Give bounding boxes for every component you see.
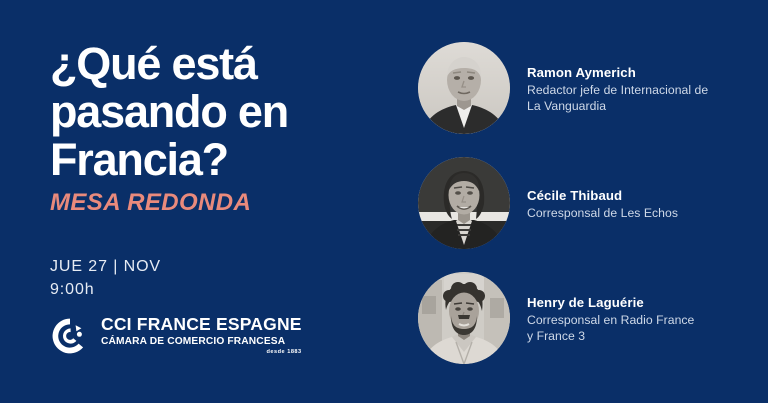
speaker-row: Henry de Laguérie Corresponsal en Radio … bbox=[418, 272, 738, 364]
speaker-role-line: Redactor jefe de Internacional de bbox=[527, 82, 708, 98]
brand-logo: CCI FRANCE ESPAGNE CÁMARA DE COMERCIO FR… bbox=[50, 315, 302, 357]
speaker-role: Corresponsal en Radio France y France 3 bbox=[527, 312, 694, 344]
title-line-2: pasando en bbox=[50, 88, 390, 136]
speaker-role: Corresponsal de Les Echos bbox=[527, 205, 678, 221]
avatar bbox=[418, 272, 510, 364]
title-line-3: Francia? bbox=[50, 136, 390, 184]
avatar bbox=[418, 157, 510, 249]
speaker-row: Ramon Aymerich Redactor jefe de Internac… bbox=[418, 42, 738, 134]
brand-tagline: desde 1883 bbox=[101, 348, 302, 357]
speaker-info: Henry de Laguérie Corresponsal en Radio … bbox=[527, 293, 694, 344]
speaker-info: Ramon Aymerich Redactor jefe de Internac… bbox=[527, 63, 708, 114]
speaker-role-line: y France 3 bbox=[527, 328, 694, 344]
speaker-role-line: La Vanguardia bbox=[527, 98, 708, 114]
speaker-row: Cécile Thibaud Corresponsal de Les Echos bbox=[418, 157, 738, 249]
brand-name-secondary: CÁMARA DE COMERCIO FRANCESA bbox=[101, 335, 302, 348]
speaker-role-line: Corresponsal de Les Echos bbox=[527, 205, 678, 221]
brand-logo-text: CCI FRANCE ESPAGNE CÁMARA DE COMERCIO FR… bbox=[101, 315, 302, 357]
cci-circular-c-logo-icon bbox=[50, 316, 90, 356]
event-datetime: JUE 27 | NOV 9:00h bbox=[50, 255, 390, 301]
brand-name-primary: CCI FRANCE ESPAGNE bbox=[101, 315, 302, 334]
avatar bbox=[418, 42, 510, 134]
page-title: ¿Qué está pasando en Francia? bbox=[50, 40, 390, 184]
speaker-info: Cécile Thibaud Corresponsal de Les Echos bbox=[527, 186, 678, 221]
speaker-name: Henry de Laguérie bbox=[527, 294, 694, 311]
event-format-subtitle: MESA REDONDA bbox=[50, 188, 390, 218]
speakers-list: Ramon Aymerich Redactor jefe de Internac… bbox=[418, 42, 738, 364]
event-details-column: ¿Qué está pasando en Francia? MESA REDON… bbox=[50, 40, 390, 370]
speaker-name: Ramon Aymerich bbox=[527, 64, 708, 81]
title-line-1: ¿Qué está bbox=[50, 40, 390, 88]
event-date: JUE 27 | NOV bbox=[50, 255, 390, 278]
speaker-role-line: Corresponsal en Radio France bbox=[527, 312, 694, 328]
speaker-role: Redactor jefe de Internacional de La Van… bbox=[527, 82, 708, 114]
event-poster: ¿Qué está pasando en Francia? MESA REDON… bbox=[0, 0, 768, 403]
speaker-name: Cécile Thibaud bbox=[527, 187, 678, 204]
event-time: 9:00h bbox=[50, 278, 390, 301]
